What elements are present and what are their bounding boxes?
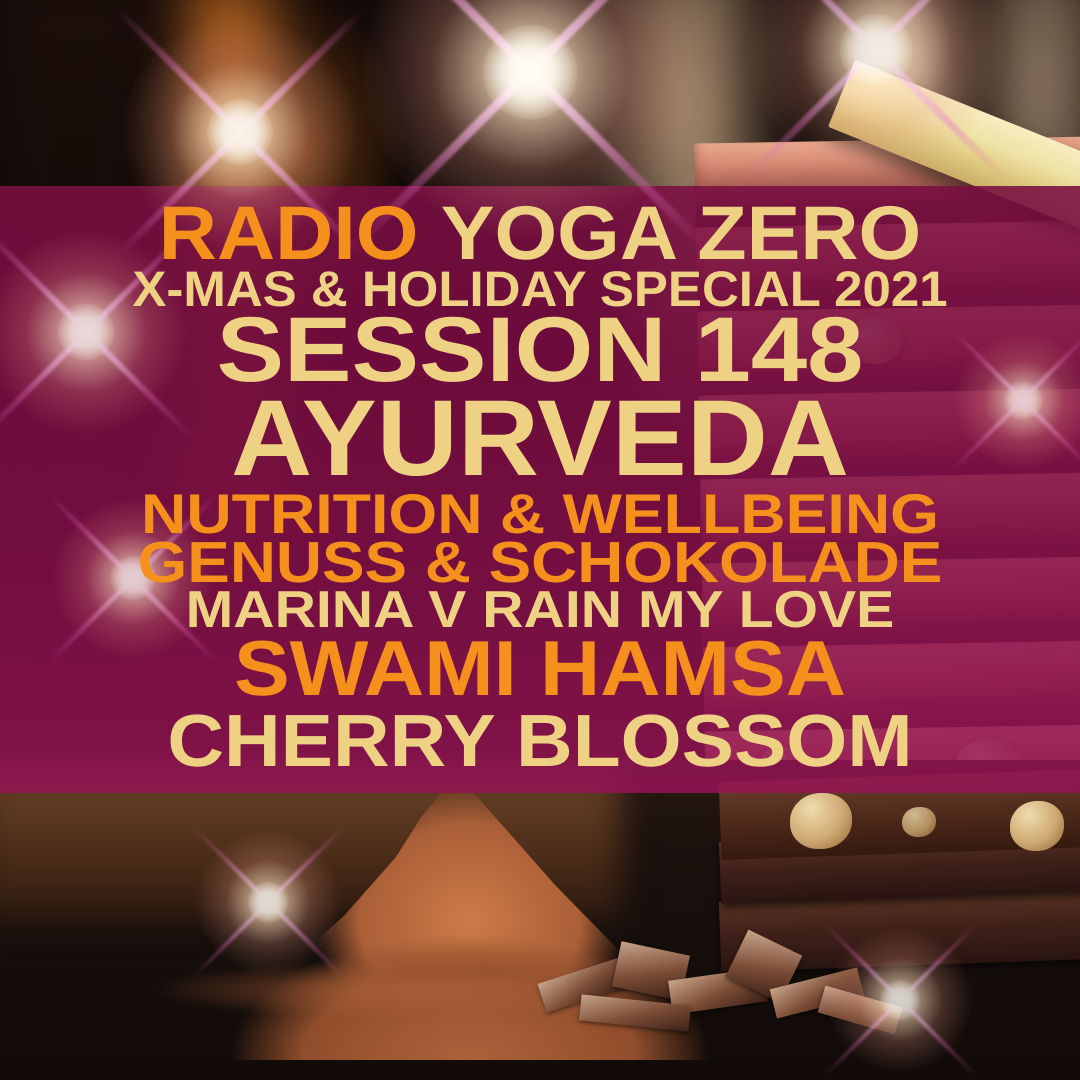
chocolate-shavings [520, 930, 940, 1070]
poster-text-block: RADIO YOGA ZERO X-MAS & HOLIDAY SPECIAL … [0, 186, 1080, 793]
hazelnut [790, 793, 852, 849]
track-cherry-blossom: CHERRY BLOSSOM [0, 704, 1080, 778]
guest-swami-hamsa: SWAMI HAMSA [0, 629, 1080, 707]
hazelnut [902, 807, 936, 837]
poster-canvas: RADIO YOGA ZERO X-MAS & HOLIDAY SPECIAL … [0, 0, 1080, 1080]
hazelnut [1010, 801, 1064, 851]
topic-ayurveda: AYURVEDA [0, 384, 1080, 492]
